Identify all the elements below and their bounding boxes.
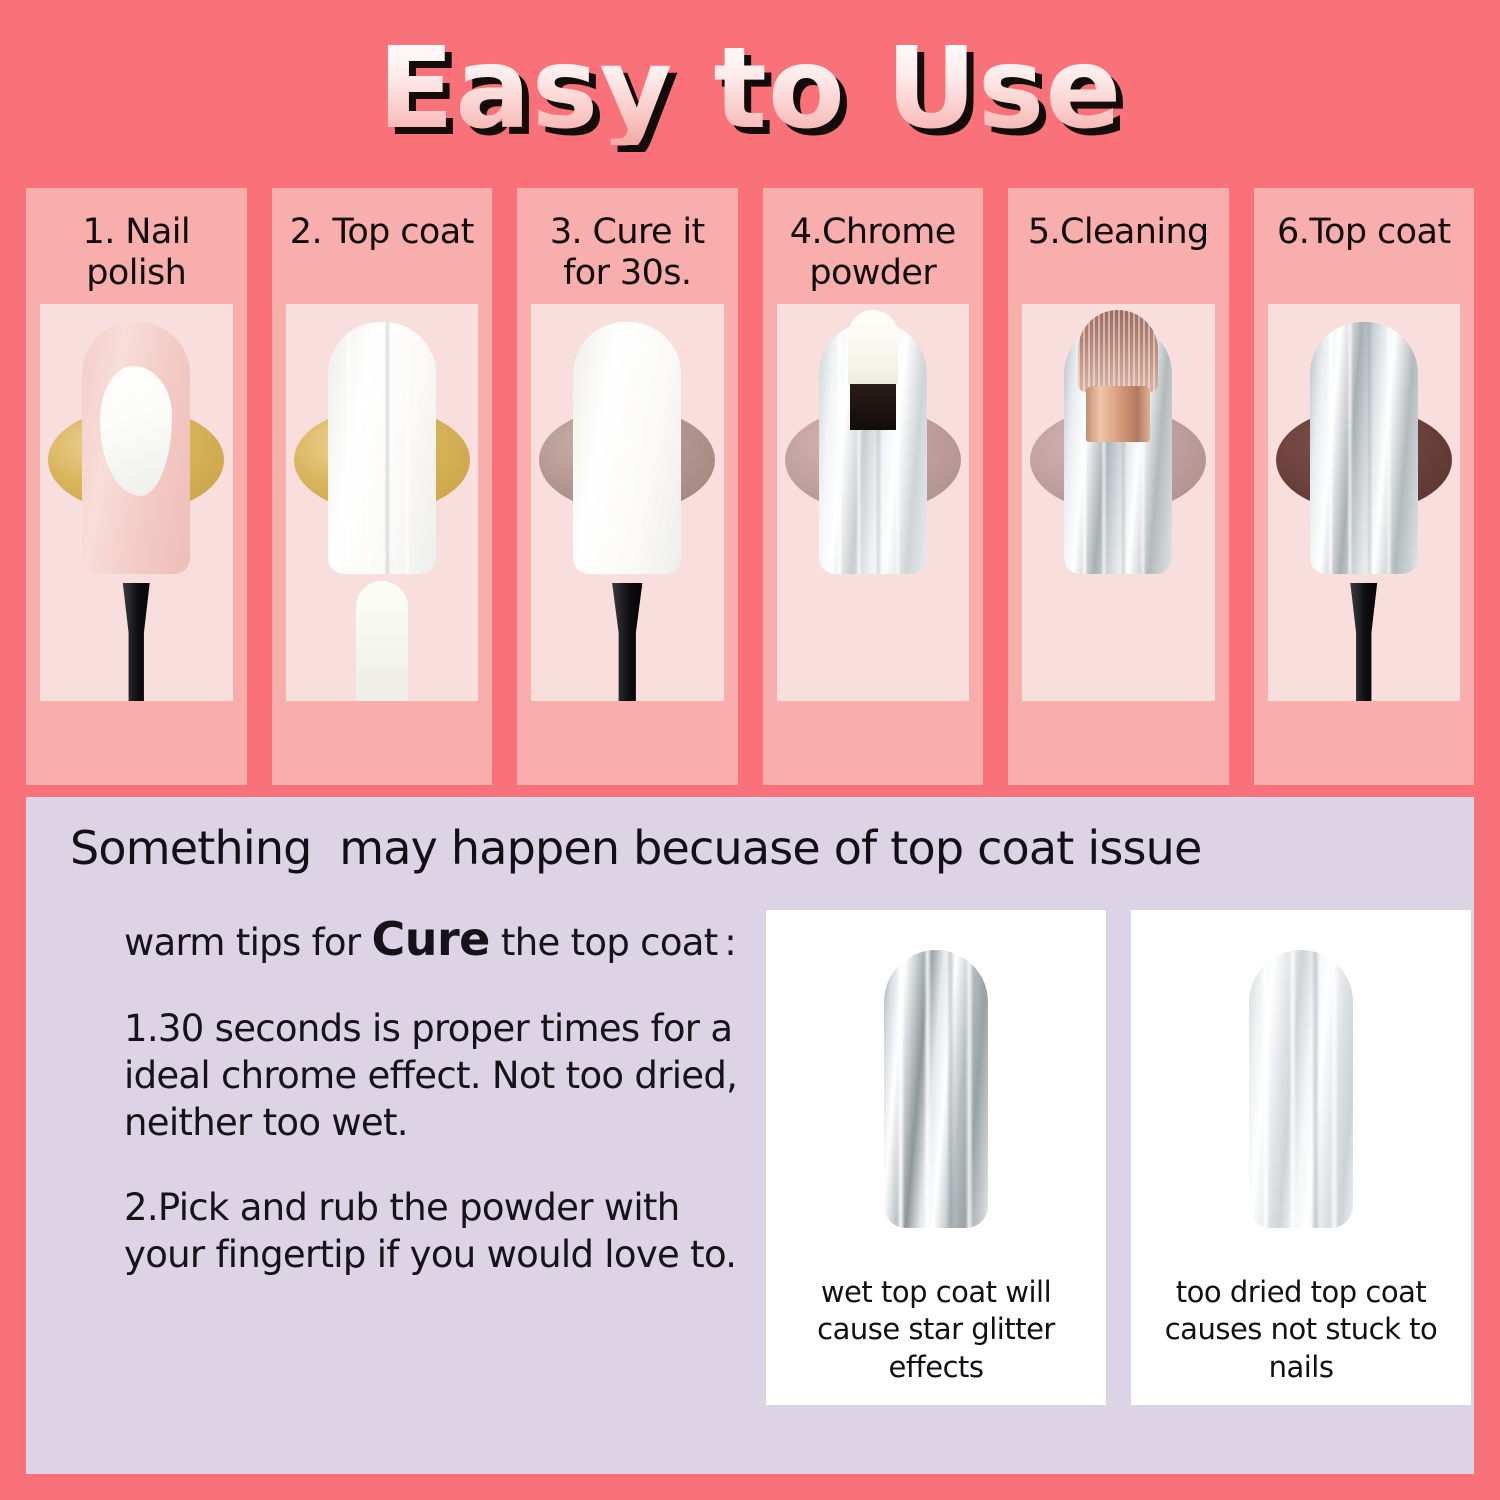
compare-caption-wet: wet top coat will cause star glitter eff… (778, 1274, 1094, 1391)
step-photo-1 (40, 304, 233, 701)
nail-highlight (1310, 322, 1418, 574)
step-photo-4 (777, 304, 970, 701)
notes-body: warm tips for Cure the top coat : 1.30 s… (56, 910, 1444, 1405)
step-photo-5 (1022, 304, 1215, 701)
step-label-1: 1. Nail polish (26, 188, 247, 295)
nail-white-glossy (328, 322, 436, 574)
black-brush-icon (112, 583, 160, 701)
step-label-2: 2. Top coat (272, 188, 493, 253)
compare-card-dried: too dried top coat causes not stuck to n… (1131, 910, 1471, 1405)
step-card-3: 3. Cure it for 30s. (517, 188, 738, 785)
nail-mirror-chrome (884, 950, 988, 1228)
tips-intro-after: the top coat : (490, 921, 736, 964)
step-photo-3 (531, 304, 724, 701)
black-brush-icon (1340, 583, 1388, 701)
nail-pearl-white (1249, 950, 1353, 1228)
dusting-brush-icon (1070, 310, 1166, 442)
compare-column: wet top coat will cause star glitter eff… (766, 910, 1471, 1405)
step-card-2: 2. Top coat (272, 188, 493, 785)
step-photo-6 (1268, 304, 1461, 701)
tips-column: warm tips for Cure the top coat : 1.30 s… (56, 910, 746, 1405)
compare-caption-dried: too dried top coat causes not stuck to n… (1143, 1274, 1459, 1391)
step-card-6: 6.Top coat (1254, 188, 1475, 785)
tips-intro: warm tips for Cure the top coat : (124, 910, 746, 968)
page-title: Easy to Use (368, 33, 1133, 145)
nail-highlight (884, 950, 988, 1228)
compare-card-wet: wet top coat will cause star glitter eff… (766, 910, 1106, 1405)
white-brush-icon (356, 581, 408, 701)
step-label-3: 3. Cure it for 30s. (517, 188, 738, 295)
step-card-4: 4.Chrome powder (763, 188, 984, 785)
title-area: Easy to Use (0, 0, 1500, 178)
tip-item: 1.30 seconds is proper times for a ideal… (124, 1006, 746, 1147)
sponge-applicator-icon (844, 310, 902, 430)
nail-silver-chrome-sealed (1310, 322, 1418, 574)
nail-white-cured (573, 322, 681, 574)
step-photo-2 (286, 304, 479, 701)
tips-intro-before: warm tips for (124, 921, 371, 964)
step-label-5: 5.Cleaning (1008, 188, 1229, 253)
step-card-5: 5.Cleaning (1008, 188, 1229, 785)
black-brush-icon (600, 583, 654, 701)
tips-intro-emphasis: Cure (371, 912, 489, 966)
steps-strip: 1. Nail polish 2. Top coat 3. Cure it fo… (26, 188, 1474, 785)
tip-item: 2.Pick and rub the powder with your fing… (124, 1185, 746, 1279)
notes-heading: Something may happen becuase of top coat… (56, 823, 1444, 874)
nail-highlight (328, 322, 436, 574)
step-label-6: 6.Top coat (1254, 188, 1475, 253)
infographic-poster: Easy to Use 1. Nail polish 2. Top coat (0, 0, 1500, 1500)
nail-highlight (1249, 950, 1353, 1228)
step-label-4: 4.Chrome powder (763, 188, 984, 295)
step-card-1: 1. Nail polish (26, 188, 247, 785)
notes-panel: Something may happen becuase of top coat… (26, 797, 1474, 1474)
